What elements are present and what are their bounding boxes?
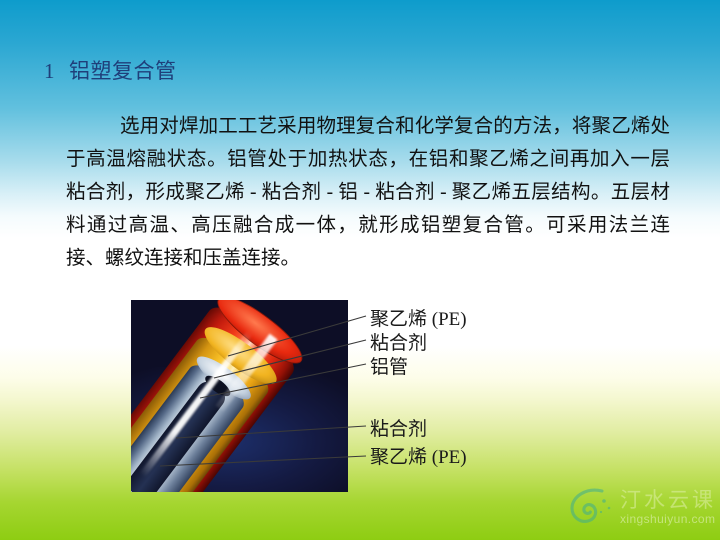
callout-label-adhesive-bottom: 粘合剂 <box>370 418 427 442</box>
watermark-brand: 汀水云课 <box>620 484 716 514</box>
callout-label-inner-pe: 聚乙烯 (PE) <box>370 446 467 470</box>
slide-canvas: 1铝塑复合管 选用对焊加工工艺采用物理复合和化学复合的方法，将聚乙烯处于高温熔融… <box>0 0 720 540</box>
wave-logo-icon <box>568 482 614 528</box>
callout-label-adhesive-top: 粘合剂 <box>370 332 427 356</box>
callout-label-outer-pe: 聚乙烯 (PE) <box>370 308 467 332</box>
pipe-photo <box>131 300 348 492</box>
watermark: 汀水云课 xingshuiyun.com <box>568 480 714 534</box>
callout-label-aluminium-tube: 铝管 <box>370 356 408 380</box>
watermark-url-text: xingshuiyun.com <box>620 512 715 526</box>
page-title: 1铝塑复合管 <box>44 57 177 85</box>
body-paragraph: 选用对焊加工工艺采用物理复合和化学复合的方法，将聚乙烯处于高温熔融状态。铝管处于… <box>66 110 670 275</box>
title-label: 铝塑复合管 <box>69 59 177 83</box>
title-number: 1 <box>44 59 55 83</box>
